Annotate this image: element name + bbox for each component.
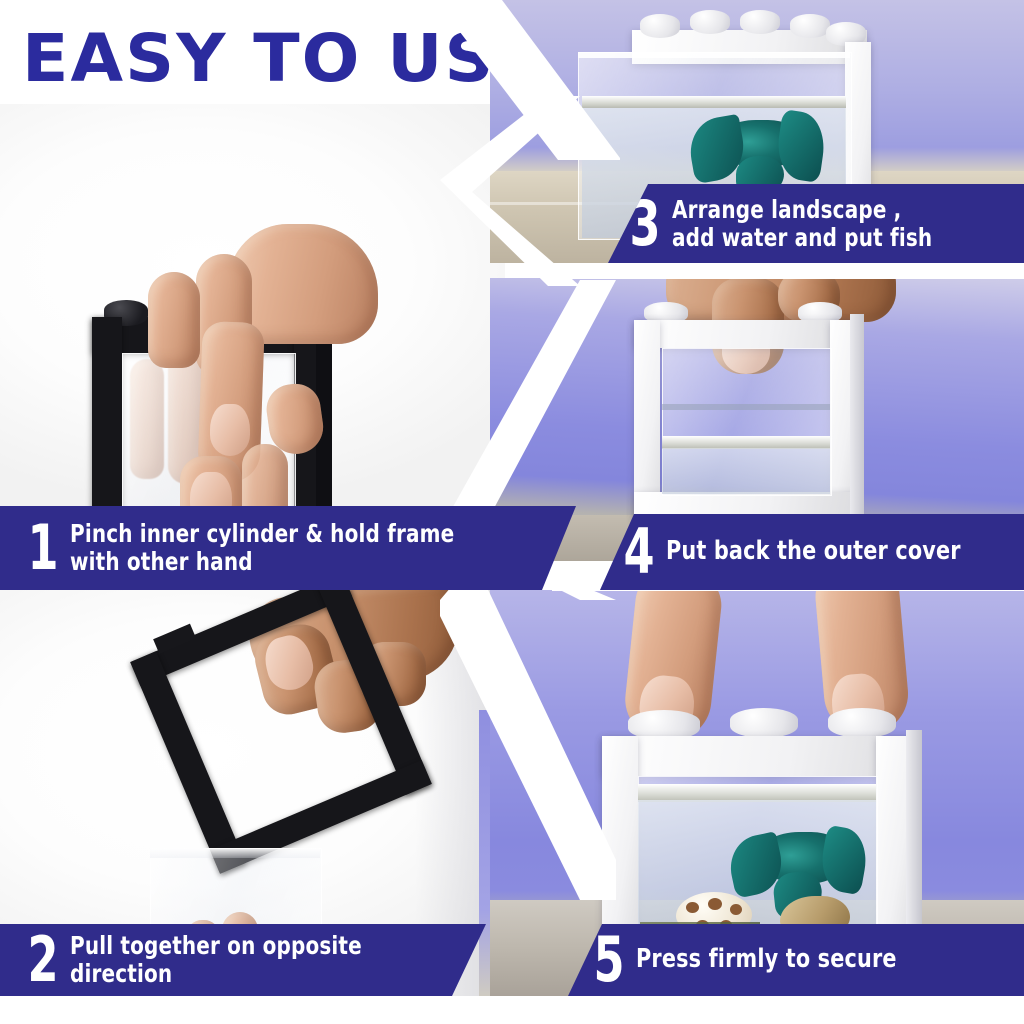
divider-bottom-band: [0, 996, 1024, 1024]
step-2-text: Pull together on opposite direction: [70, 932, 403, 988]
step-3-caption: 3 Arrange landscape , add water and put …: [608, 184, 1024, 263]
step-5-caption: 5 Press firmly to secure: [568, 924, 1024, 996]
step-2-caption: 2 Pull together on opposite direction: [0, 924, 486, 996]
step-1-number: 1: [24, 517, 63, 579]
step-1-caption: 1 Pinch inner cylinder & hold frame with…: [0, 506, 576, 590]
step-4-text: Put back the outer cover: [666, 537, 962, 566]
step-2-number: 2: [24, 929, 63, 991]
divider-right-gap-1: [552, 263, 1024, 279]
step-1-text: Pinch inner cylinder & hold frame with o…: [70, 520, 475, 576]
step-4-caption: 4 Put back the outer cover: [600, 514, 1024, 590]
step-3-text: Arrange landscape , add water and put fi…: [672, 196, 962, 252]
step-1-photo: [0, 104, 505, 508]
step-5-number: 5: [590, 929, 629, 991]
infographic-root: EASY TO USE: [0, 0, 1024, 1024]
step-5-text: Press firmly to secure: [636, 945, 958, 974]
